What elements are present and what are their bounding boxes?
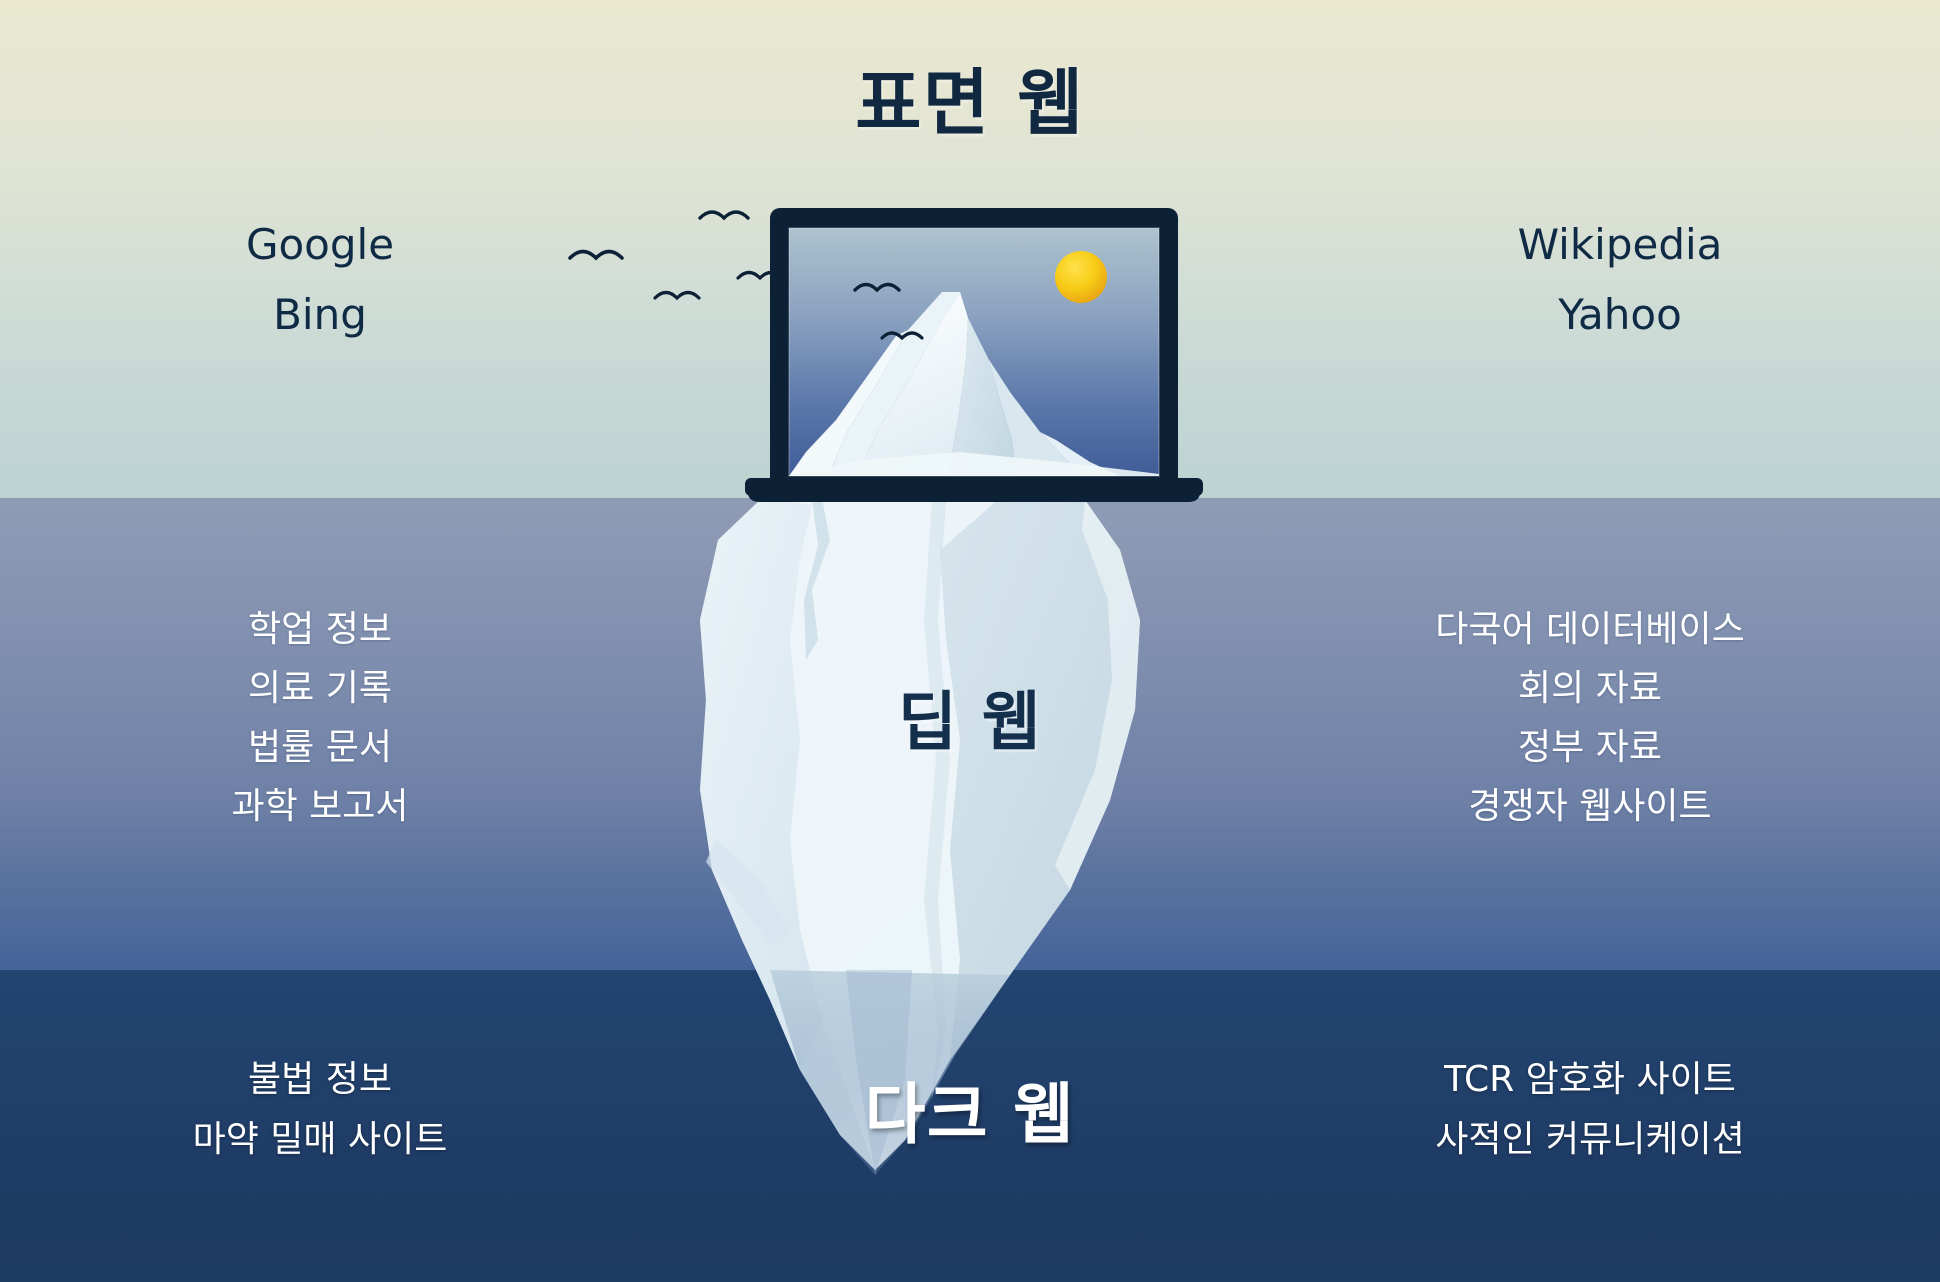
dark-web-right-labels: TCR 암호화 사이트 사적인 커뮤니케이션	[1280, 1062, 1900, 1182]
label-item: 회의 자료	[1518, 671, 1662, 707]
label-item: Google	[246, 224, 394, 266]
label-item: 정부 자료	[1518, 730, 1662, 766]
label-item: 경쟁자 웹사이트	[1468, 789, 1711, 825]
surface-web-title: 표면 웹	[0, 44, 1940, 149]
label-item: Bing	[273, 294, 367, 336]
dark-web-left-labels: 불법 정보 마약 밀매 사이트	[40, 1062, 600, 1182]
label-item: TCR 암호화 사이트	[1444, 1062, 1736, 1098]
surface-web-right-labels: Wikipedia Yahoo	[1360, 224, 1880, 364]
label-item: 마약 밀매 사이트	[193, 1122, 448, 1158]
label-item: Yahoo	[1558, 294, 1682, 336]
label-item: 법률 문서	[248, 730, 392, 766]
deep-web-right-labels: 다국어 데이터베이스 회의 자료 정부 자료 경쟁자 웹사이트	[1280, 612, 1900, 848]
label-item: 의료 기록	[248, 671, 392, 707]
label-item: 불법 정보	[248, 1062, 392, 1098]
label-item: 과학 보고서	[231, 789, 408, 825]
label-item: 사적인 커뮤니케이션	[1435, 1122, 1745, 1158]
deep-web-left-labels: 학업 정보 의료 기록 법률 문서 과학 보고서	[40, 612, 600, 848]
label-item: 학업 정보	[248, 612, 392, 648]
surface-web-left-labels: Google Bing	[60, 224, 580, 364]
label-item: Wikipedia	[1518, 224, 1723, 266]
label-item: 다국어 데이터베이스	[1435, 612, 1745, 648]
infographic-canvas: 표면 웹 딥 웹 다크 웹 Google Bing Wikipedia Yaho…	[0, 0, 1940, 1282]
